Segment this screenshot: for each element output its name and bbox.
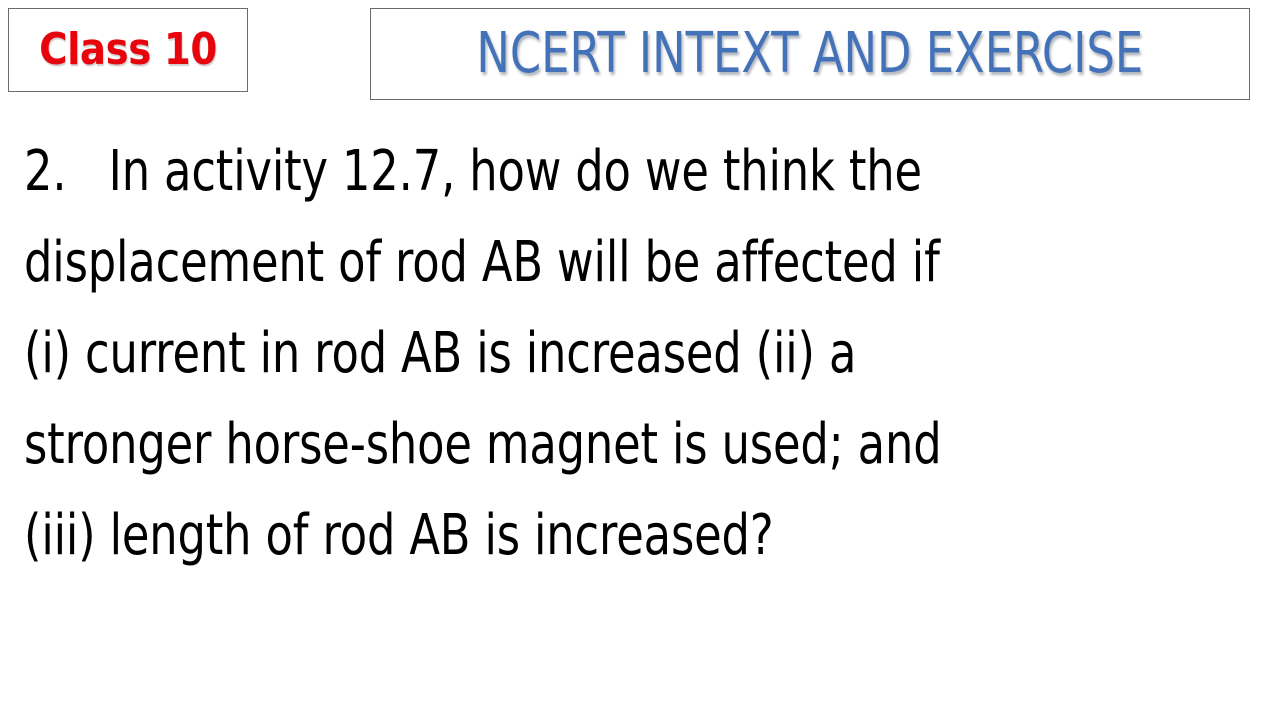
question-line: (iii) length of rod AB is increased? — [24, 490, 1010, 581]
title-box: NCERT INTEXT AND EXERCISE — [370, 8, 1250, 100]
class-badge: Class 10 — [8, 8, 248, 92]
question-line: stronger horse-shoe magnet is used; and — [24, 399, 1010, 490]
question-line: displacement of rod AB will be affected … — [24, 217, 1010, 308]
question-text-block: 2. In activity 12.7, how do we think the… — [24, 126, 1256, 581]
question-line: (i) current in rod AB is increased (ii) … — [24, 308, 1010, 399]
class-badge-label: Class 10 — [39, 28, 217, 72]
question-line: 2. In activity 12.7, how do we think the — [24, 126, 1010, 217]
slide-canvas: Class 10 NCERT INTEXT AND EXERCISE 2. In… — [0, 0, 1280, 720]
slide-header: Class 10 NCERT INTEXT AND EXERCISE — [0, 0, 1280, 108]
page-title: NCERT INTEXT AND EXERCISE — [477, 26, 1144, 82]
